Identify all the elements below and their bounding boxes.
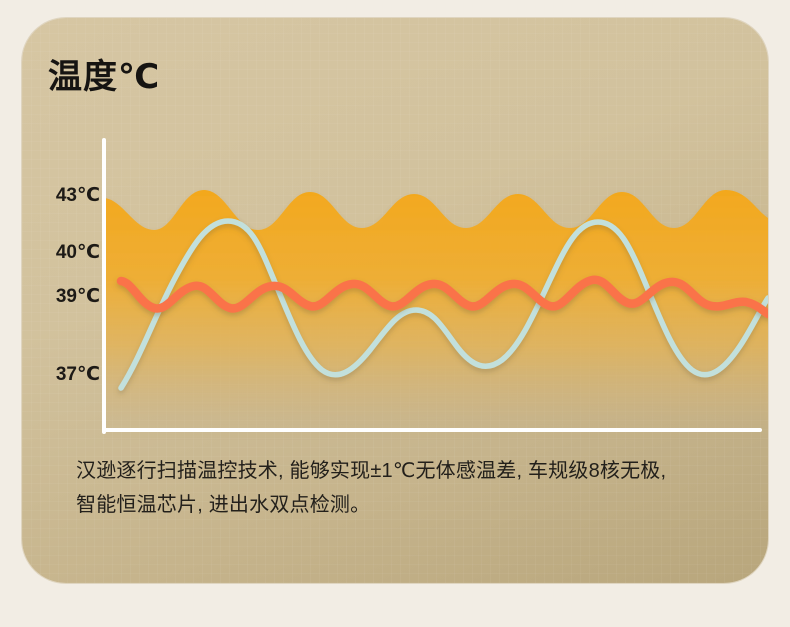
y-tick-40: 40℃: [30, 241, 100, 264]
temperature-chart-card: 温度℃: [22, 18, 768, 583]
caption-line-1: 汉逊逐行扫描温控技术, 能够实现±1℃无体感温差, 车规级8核无极,: [76, 454, 736, 488]
y-tick-43: 43℃: [30, 184, 100, 207]
y-tick-37: 37℃: [30, 363, 100, 386]
caption-text: 汉逊逐行扫描温控技术, 能够实现±1℃无体感温差, 车规级8核无极, 智能恒温芯…: [76, 454, 736, 523]
caption-line-2: 智能恒温芯片, 进出水双点检测。: [76, 488, 736, 522]
y-tick-39: 39℃: [30, 285, 100, 308]
